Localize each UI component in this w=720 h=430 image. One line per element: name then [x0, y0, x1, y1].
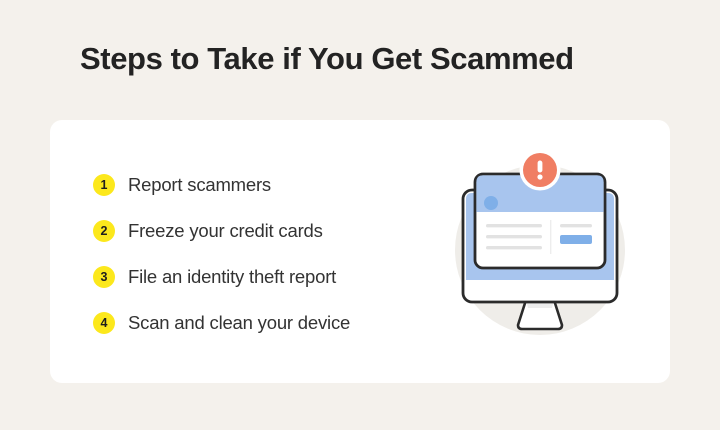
content-line	[486, 246, 542, 249]
step-label: File an identity theft report	[128, 266, 336, 288]
step-label: Report scammers	[128, 174, 271, 196]
step-number-badge: 2	[93, 220, 115, 242]
computer-alert-illustration	[430, 140, 650, 360]
page-title: Steps to Take if You Get Scammed	[80, 40, 680, 78]
avatar-dot	[484, 196, 498, 210]
step-label: Freeze your credit cards	[128, 220, 323, 242]
step-number-badge: 1	[93, 174, 115, 196]
steps-list: 1 Report scammers 2 Freeze your credit c…	[93, 162, 423, 346]
primary-button-shape	[560, 235, 592, 244]
exclamation-dot	[537, 174, 542, 179]
list-item: 3 File an identity theft report	[93, 254, 423, 300]
list-item: 4 Scan and clean your device	[93, 300, 423, 346]
content-line	[486, 224, 542, 227]
step-number-badge: 4	[93, 312, 115, 334]
infographic-canvas: Steps to Take if You Get Scammed 1 Repor…	[0, 0, 720, 430]
column-divider	[550, 220, 551, 254]
content-line	[560, 224, 592, 227]
list-item: 2 Freeze your credit cards	[93, 208, 423, 254]
content-card: 1 Report scammers 2 Freeze your credit c…	[50, 120, 670, 383]
step-label: Scan and clean your device	[128, 312, 350, 334]
exclamation-stem	[538, 161, 543, 173]
step-number-badge: 3	[93, 266, 115, 288]
list-item: 1 Report scammers	[93, 162, 423, 208]
content-line	[486, 235, 542, 238]
